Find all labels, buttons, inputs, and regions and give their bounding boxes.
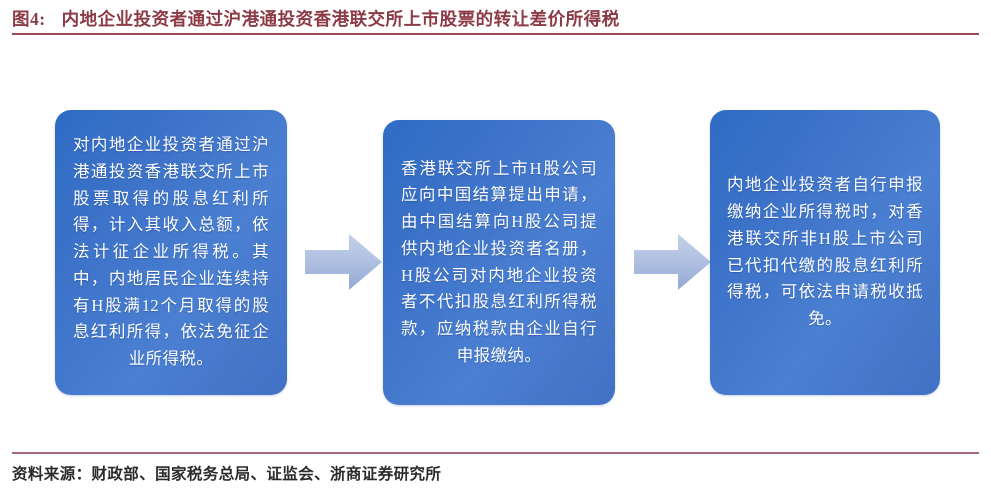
flow-box-2[interactable]: 香港联交所上市H股公司应向中国结算提出申请，由中国结算向H股公司提供内地企业投资…: [383, 120, 615, 405]
footer-divider: [12, 452, 979, 454]
flow-box-2-text: 香港联交所上市H股公司应向中国结算提出申请，由中国结算向H股公司提供内地企业投资…: [399, 156, 599, 370]
flow-box-1-text: 对内地企业投资者通过沪港通投资香港联交所上市股票取得的股息红利所得，计入其收入总…: [71, 132, 271, 372]
flow-box-1[interactable]: 对内地企业投资者通过沪港通投资香港联交所上市股票取得的股息红利所得，计入其收入总…: [55, 110, 287, 395]
figure-title-text: 内地企业投资者通过沪港通投资香港联交所上市股票的转让差价所得税: [62, 9, 620, 29]
flowchart-canvas: 对内地企业投资者通过沪港通投资香港联交所上市股票取得的股息红利所得，计入其收入总…: [0, 38, 991, 444]
source-note: 资料来源：财政部、国家税务总局、证监会、浙商证券研究所: [12, 462, 441, 484]
page-title: 图4:内地企业投资者通过沪港通投资香港联交所上市股票的转让差价所得税: [12, 6, 620, 31]
title-divider: [12, 33, 979, 35]
right-arrow-icon: [634, 231, 712, 293]
flow-box-3[interactable]: 内地企业投资者自行申报缴纳企业所得税时，对香港联交所非H股上市公司已代扣代缴的股…: [710, 110, 940, 395]
right-arrow-icon: [305, 231, 383, 293]
figure-header: 图4:内地企业投资者通过沪港通投资香港联交所上市股票的转让差价所得税: [0, 0, 991, 38]
flow-box-3-text: 内地企业投资者自行申报缴纳企业所得税时，对香港联交所非H股上市公司已代扣代缴的股…: [725, 172, 925, 332]
figure-number: 图4:: [12, 6, 46, 31]
